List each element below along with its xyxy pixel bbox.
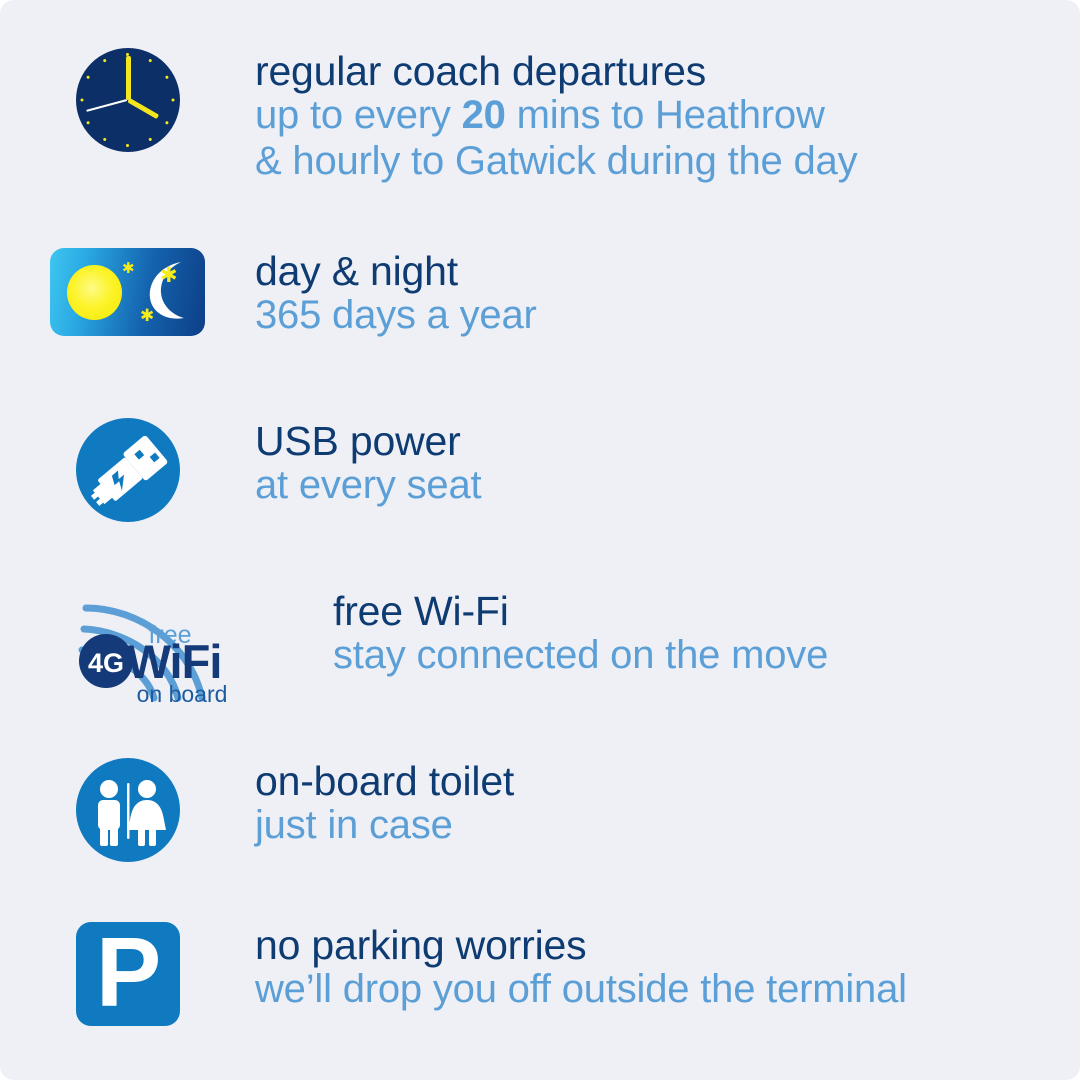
feature-subline: we’ll drop you off outside the terminal — [255, 967, 1080, 1013]
toilet-icon-cell — [0, 758, 255, 862]
toilet-text: on-board toilet just in case — [255, 758, 1080, 849]
feature-headline: on-board toilet — [255, 760, 1080, 803]
feature-headline: free Wi-Fi — [333, 590, 1080, 633]
feature-row-departures: regular coach departures up to every 20 … — [0, 48, 1080, 185]
feature-row-day-night: ✱ ✱ ✱ day & night 365 days a year — [0, 248, 1080, 339]
clock-hour-hand — [127, 98, 159, 119]
star-icon: ✱ — [160, 265, 178, 286]
parking-letter: P — [96, 932, 159, 1012]
parking-icon: P — [76, 922, 180, 1026]
sun-icon — [67, 265, 122, 320]
clock-second-hand — [86, 99, 127, 112]
wifi-logo-glyph: 4G free WiFi on board — [78, 588, 248, 706]
feature-row-usb: USB power at every seat — [0, 418, 1080, 522]
toilet-icon — [76, 758, 180, 862]
feature-subline: at every seat — [255, 463, 1080, 509]
subline-emphasis: 20 — [462, 93, 506, 137]
feature-subline-line2: & hourly to Gatwick during the day — [255, 139, 1080, 185]
departures-text: regular coach departures up to every 20 … — [255, 48, 1080, 185]
features-panel: regular coach departures up to every 20 … — [0, 0, 1080, 1080]
subline-suffix: mins to Heathrow — [506, 93, 825, 137]
feature-row-wifi: 4G free WiFi on board free Wi-Fi stay co… — [0, 588, 1080, 706]
usb-plug-glyph — [76, 418, 180, 522]
feature-headline: USB power — [255, 420, 1080, 463]
feature-subline-line1: up to every 20 mins to Heathrow — [255, 93, 1080, 139]
parking-text: no parking worries we’ll drop you off ou… — [255, 922, 1080, 1013]
day-night-icon: ✱ ✱ ✱ — [50, 248, 205, 336]
wifi-4g-label: 4G — [88, 648, 124, 678]
feature-subline: just in case — [255, 803, 1080, 849]
wifi-icon-cell: 4G free WiFi on board — [0, 588, 348, 706]
feature-subline: 365 days a year — [255, 293, 1080, 339]
feature-row-toilet: on-board toilet just in case — [0, 758, 1080, 862]
clock-minute-hand — [126, 56, 131, 100]
wifi-onboard-label: on board — [137, 681, 228, 706]
subline-prefix: up to every — [255, 93, 462, 137]
wifi-text: free Wi-Fi stay connected on the move — [333, 588, 1080, 679]
wifi-icon: 4G free WiFi on board — [78, 588, 248, 706]
day-night-text: day & night 365 days a year — [255, 248, 1080, 339]
feature-headline: no parking worries — [255, 924, 1080, 967]
feature-headline: day & night — [255, 250, 1080, 293]
star-icon: ✱ — [140, 308, 154, 325]
usb-icon-cell — [0, 418, 255, 522]
star-icon: ✱ — [122, 261, 135, 276]
usb-icon — [76, 418, 180, 522]
clock-icon-cell — [0, 48, 255, 152]
restroom-glyph — [76, 758, 180, 862]
feature-headline: regular coach departures — [255, 50, 1080, 93]
feature-row-parking: P no parking worries we’ll drop you off … — [0, 922, 1080, 1026]
feature-subline: stay connected on the move — [333, 633, 1080, 679]
day-night-icon-cell: ✱ ✱ ✱ — [0, 248, 255, 336]
clock-icon — [76, 48, 180, 152]
parking-icon-cell: P — [0, 922, 255, 1026]
usb-text: USB power at every seat — [255, 418, 1080, 509]
